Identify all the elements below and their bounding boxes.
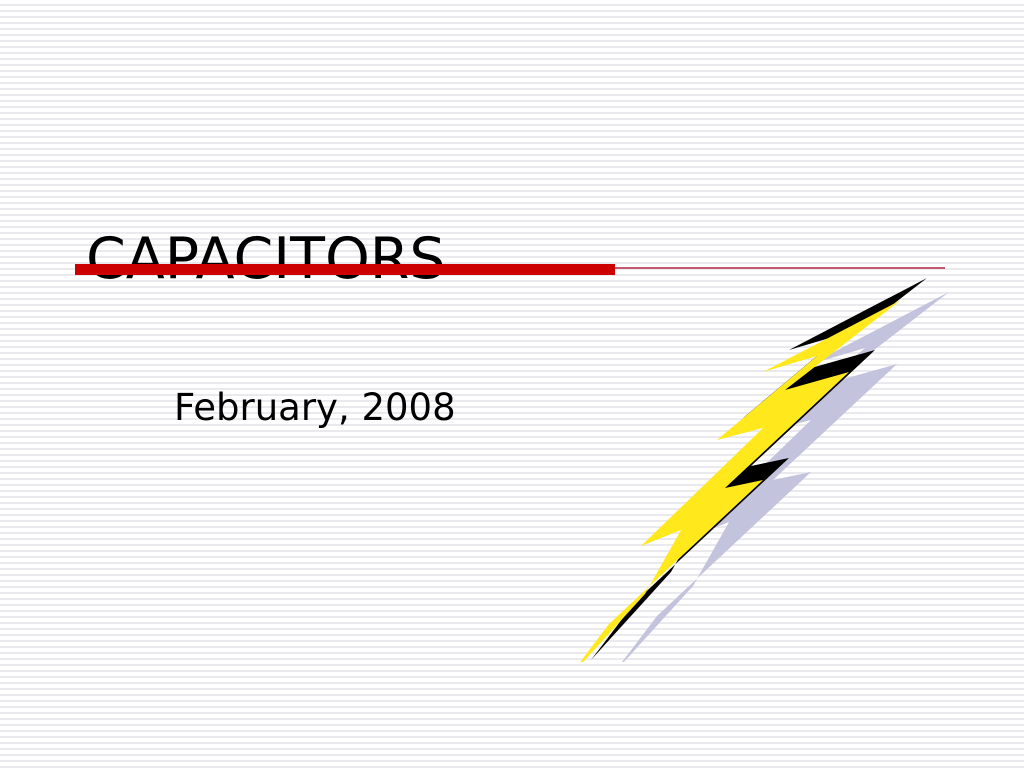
page-title: CAPACITORS <box>86 230 446 290</box>
lightning-bolt-icon <box>575 272 955 662</box>
bolt-shadow-layer <box>613 292 949 662</box>
subtitle-date: February, 2008 <box>174 388 456 429</box>
accent-bar-thick <box>75 264 615 275</box>
presentation-slide: CAPACITORS February, 2008 <box>0 0 1024 768</box>
